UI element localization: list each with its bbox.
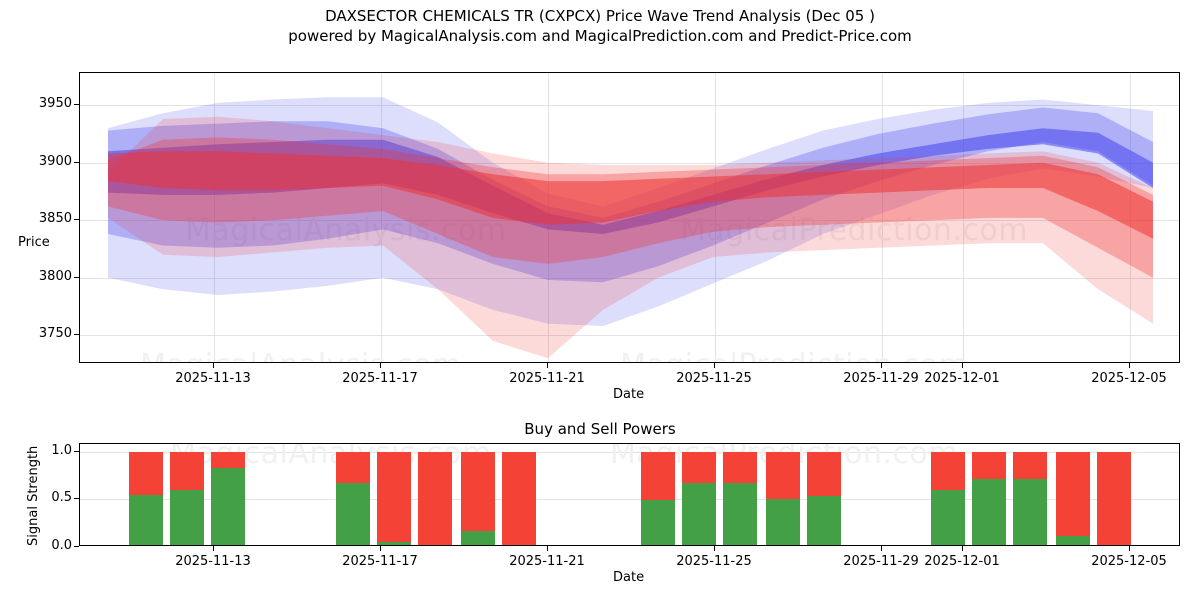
bar-2025-11-21 [502, 452, 536, 546]
bar-segment-buy [129, 495, 163, 546]
price-xtick-label: 2025-11-29 [843, 371, 919, 386]
bar-segment-sell [807, 452, 841, 496]
bar-2025-11-26 [723, 452, 757, 546]
price-ytick-label: 3900 [17, 154, 72, 169]
signal-ytick-label: 1.0 [27, 443, 72, 458]
price-xtick [714, 363, 715, 368]
price-x-axis-label: Date [613, 387, 644, 402]
bar-segment-sell [170, 452, 204, 490]
signal-xtick [1129, 546, 1130, 551]
bar-segment-sell [129, 452, 163, 495]
price-ytick [74, 104, 79, 105]
bar-segment-buy [377, 542, 411, 546]
price-xtick [380, 363, 381, 368]
bar-segment-sell [211, 452, 245, 468]
signal-xtick [881, 546, 882, 551]
bar-2025-12-04 [1056, 452, 1090, 546]
price-ytick [74, 162, 79, 163]
bar-segment-sell [461, 452, 495, 532]
price-ytick [74, 277, 79, 278]
signal-ytick [74, 546, 79, 547]
bar-segment-buy [641, 500, 675, 546]
bar-segment-sell [931, 452, 965, 490]
bar-segment-buy [723, 483, 757, 546]
signal-ytick-label: 0.5 [27, 490, 72, 505]
price-chart-axes: MagicalAnalysis.comMagicalPrediction.com… [79, 72, 1180, 363]
bar-2025-11-20 [461, 452, 495, 546]
signal-xtick-label: 2025-11-21 [509, 554, 585, 569]
price-xtick-label: 2025-11-25 [676, 371, 752, 386]
bar-2025-12-05 [1097, 452, 1131, 546]
bar-2025-12-02 [972, 452, 1006, 546]
bar-segment-sell [723, 452, 757, 484]
figure-title-line-1: DAXSECTOR CHEMICALS TR (CXPCX) Price Wav… [0, 6, 1200, 26]
bar-2025-11-12 [170, 452, 204, 546]
signal-xtick-label: 2025-11-29 [843, 554, 919, 569]
price-xtick [1129, 363, 1130, 368]
price-ytick-label: 3750 [17, 326, 72, 341]
signal-xtick-label: 2025-11-17 [342, 554, 418, 569]
price-y-axis-label: Price [18, 235, 50, 250]
price-wave-bands [80, 73, 1180, 363]
signal-xtick [547, 546, 548, 551]
buy-sell-chart-axes: MagicalAnalysis.comMagicalPrediction.com [79, 443, 1180, 546]
figure-title: DAXSECTOR CHEMICALS TR (CXPCX) Price Wav… [0, 6, 1200, 46]
bar-2025-11-11 [129, 452, 163, 546]
price-xtick-label: 2025-11-17 [342, 371, 418, 386]
signal-xtick-label: 2025-12-01 [924, 554, 1000, 569]
price-ytick-label: 3800 [17, 269, 72, 284]
bar-segment-buy [972, 479, 1006, 546]
bar-segment-buy [211, 468, 245, 546]
signal-xtick-label: 2025-12-05 [1091, 554, 1167, 569]
bar-2025-11-17 [336, 452, 370, 546]
figure-title-line-2: powered by MagicalAnalysis.com and Magic… [0, 26, 1200, 46]
bar-2025-12-01 [931, 452, 965, 546]
signal-ytick [74, 498, 79, 499]
bar-segment-sell [972, 452, 1006, 479]
price-ytick [74, 334, 79, 335]
signal-ytick-label: 0.0 [27, 538, 72, 553]
price-xtick [547, 363, 548, 368]
signal-xtick-label: 2025-11-13 [175, 554, 251, 569]
price-xtick-label: 2025-12-01 [924, 371, 1000, 386]
price-xtick-label: 2025-11-21 [509, 371, 585, 386]
price-xtick [962, 363, 963, 368]
bar-2025-11-18 [377, 452, 411, 546]
signal-xtick-label: 2025-11-25 [676, 554, 752, 569]
price-ytick-label: 3850 [17, 211, 72, 226]
bar-2025-11-13 [211, 452, 245, 546]
bar-segment-sell [336, 452, 370, 484]
bar-segment-buy [931, 490, 965, 546]
signal-xtick [380, 546, 381, 551]
bar-2025-11-27 [766, 452, 800, 546]
price-wave-trend-figure: DAXSECTOR CHEMICALS TR (CXPCX) Price Wav… [0, 0, 1200, 600]
bar-segment-sell [1097, 452, 1131, 546]
bar-segment-buy [170, 490, 204, 546]
bar-2025-11-19 [418, 452, 452, 546]
bar-segment-sell [377, 452, 411, 543]
price-ytick [74, 219, 79, 220]
buy-sell-subplot-title: Buy and Sell Powers [0, 420, 1200, 438]
price-xtick [881, 363, 882, 368]
bar-segment-buy [1013, 479, 1047, 546]
bar-segment-sell [418, 452, 452, 546]
price-xtick-label: 2025-11-13 [175, 371, 251, 386]
signal-ytick [74, 451, 79, 452]
bar-segment-sell [1013, 452, 1047, 479]
bar-segment-sell [682, 452, 716, 484]
price-xtick-label: 2025-12-05 [1091, 371, 1167, 386]
signal-x-axis-label: Date [613, 570, 644, 585]
bar-2025-11-25 [682, 452, 716, 546]
bar-2025-11-24 [641, 452, 675, 546]
bar-segment-buy [461, 531, 495, 546]
bar-2025-12-03 [1013, 452, 1047, 546]
price-xtick [213, 363, 214, 368]
bar-segment-buy [807, 496, 841, 546]
bar-segment-sell [1056, 452, 1090, 536]
bar-2025-11-28 [807, 452, 841, 546]
signal-xtick [714, 546, 715, 551]
price-ytick-label: 3950 [17, 96, 72, 111]
bar-segment-sell [766, 452, 800, 500]
signal-xtick [962, 546, 963, 551]
bar-segment-buy [336, 483, 370, 546]
bar-segment-sell [641, 452, 675, 500]
signal-xtick [213, 546, 214, 551]
bar-segment-buy [1056, 536, 1090, 546]
bar-segment-buy [766, 499, 800, 546]
bar-segment-buy [682, 483, 716, 546]
bar-segment-sell [502, 452, 536, 546]
